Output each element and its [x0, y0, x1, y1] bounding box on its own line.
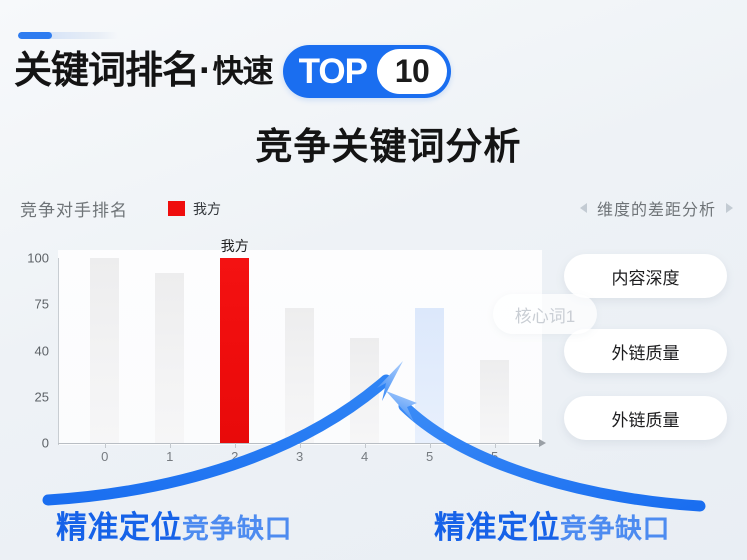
x-axis-arrow-icon	[539, 439, 546, 447]
dimension-card-label: 外链质量	[612, 406, 680, 431]
headline-sub-text: 快速	[213, 56, 273, 87]
caption-left: 精准定位 竞争缺口	[56, 502, 292, 547]
x-axis-tick-mark	[105, 443, 106, 448]
chart-title: 竞争对手排名	[20, 196, 128, 221]
bar-competitor	[350, 338, 379, 443]
x-axis-tick: 4	[361, 449, 368, 464]
dimension-card-0[interactable]: 内容深度	[564, 254, 727, 298]
y-axis-tick: 75	[35, 297, 49, 312]
bar-competitor	[90, 258, 119, 443]
bar-chart: 1007540250 我方 0123455	[12, 250, 542, 450]
y-axis	[58, 258, 59, 445]
x-axis-tick: 0	[101, 449, 108, 464]
panel-title: 维度的差距分析	[597, 196, 716, 220]
top-badge-number: 10	[377, 49, 447, 94]
bar-competitor	[285, 308, 314, 443]
bar-mine-label: 我方	[221, 236, 249, 256]
progress-bar-fill	[18, 32, 52, 39]
x-axis-tick: 1	[166, 449, 173, 464]
legend-label: 我方	[193, 199, 221, 219]
dimension-card-label: 内容深度	[612, 264, 680, 289]
y-axis-tick: 25	[35, 389, 49, 404]
chart-legend: 我方	[168, 199, 221, 219]
x-axis-tick-mark	[430, 443, 431, 448]
page-title: 竞争关键词分析	[0, 116, 747, 170]
x-axis-tick: 5	[491, 449, 498, 464]
caption-right: 精准定位 竞争缺口	[434, 502, 670, 547]
triangle-right-icon	[726, 203, 733, 213]
x-axis-tick: 3	[296, 449, 303, 464]
x-axis-tick-mark	[365, 443, 366, 448]
panel-header: 维度的差距分析	[580, 196, 733, 220]
x-axis-tick-mark	[170, 443, 171, 448]
headline-main-text: 关键词排名·	[14, 52, 211, 90]
legend-swatch-icon	[168, 201, 185, 216]
x-axis-tick-mark	[300, 443, 301, 448]
dimension-card-1[interactable]: 外链质量	[564, 329, 727, 373]
bar-competitor	[415, 308, 444, 443]
bar-competitor	[155, 273, 184, 443]
x-axis-tick-mark	[235, 443, 236, 448]
y-axis-tick: 100	[27, 251, 49, 266]
bar-mine	[220, 258, 249, 443]
x-axis-tick-mark	[495, 443, 496, 448]
dimension-card-2[interactable]: 外链质量	[564, 396, 727, 440]
dimension-card-label: 外链质量	[612, 339, 680, 364]
top-badge: TOP 10	[283, 45, 451, 98]
y-axis-tick: 0	[42, 436, 49, 451]
top-badge-word: TOP	[299, 54, 367, 89]
caption-right-light: 竞争缺口	[560, 507, 670, 546]
x-axis-tick: 5	[426, 449, 433, 464]
slide-canvas: TOP 10 关键词排名· 快速 竞争关键词分析 竞争对手排名 我方 10075…	[0, 0, 747, 560]
bar-competitor	[480, 360, 509, 443]
caption-left-light: 竞争缺口	[182, 507, 292, 546]
x-axis-tick: 2	[231, 449, 238, 464]
caption-right-strong: 精准定位	[434, 502, 560, 547]
y-axis-tick: 40	[35, 343, 49, 358]
caption-left-strong: 精准定位	[56, 502, 182, 547]
core-keyword-pill[interactable]: 核心词1	[493, 294, 597, 334]
triangle-left-icon	[580, 203, 587, 213]
progress-bar	[18, 32, 118, 39]
chart-header: 竞争对手排名 我方	[20, 196, 221, 221]
headline: 关键词排名· 快速	[14, 44, 273, 98]
